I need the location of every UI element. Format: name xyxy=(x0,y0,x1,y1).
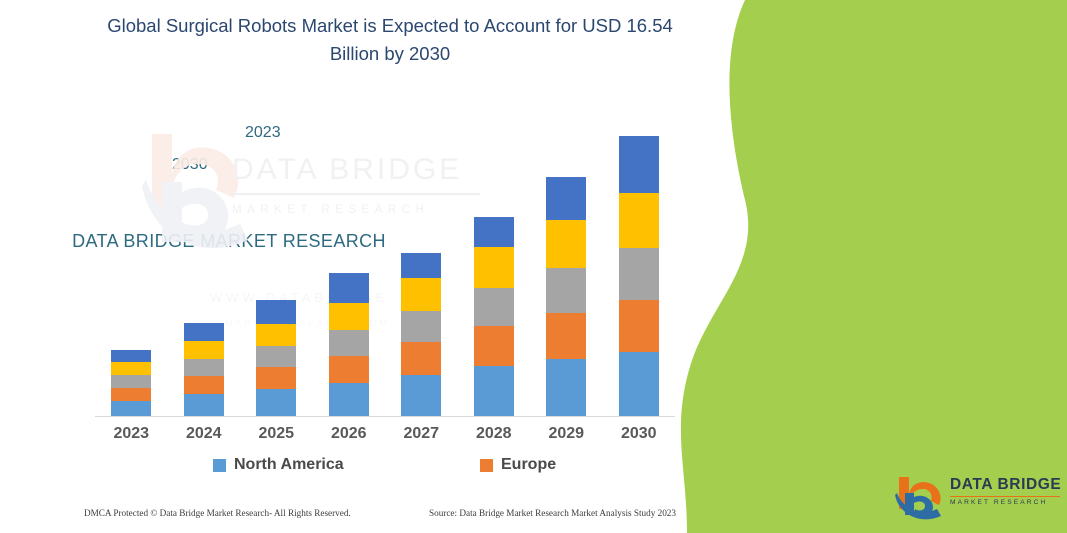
x-tick-label-2025: 2025 xyxy=(240,425,312,443)
bar-segment-north-america-2024[interactable] xyxy=(184,394,224,416)
bar-column-2028[interactable] xyxy=(474,217,514,416)
bar-segment-middle-east-and-africa-2024[interactable] xyxy=(184,323,224,341)
bar-segment-asia-pacific-2030[interactable] xyxy=(619,248,659,300)
bar-segment-europe-2029[interactable] xyxy=(546,313,586,359)
bar-segment-south-america-2027[interactable] xyxy=(401,278,441,311)
bar-segment-south-america-2026[interactable] xyxy=(329,303,369,330)
bar-column-2025[interactable] xyxy=(256,300,296,416)
bar-segment-south-america-2023[interactable] xyxy=(111,362,151,375)
footer-source: Source: Data Bridge Market Research Mark… xyxy=(429,508,676,518)
legend-item-europe[interactable]: Europe xyxy=(480,456,556,474)
legend-label: North America xyxy=(234,456,344,474)
bar-segment-asia-pacific-2023[interactable] xyxy=(111,375,151,388)
bar-segment-middle-east-and-africa-2025[interactable] xyxy=(256,300,296,324)
logo-mark-icon xyxy=(893,475,947,521)
bar-segment-south-america-2029[interactable] xyxy=(546,220,586,268)
legend-swatch-icon xyxy=(213,459,226,472)
page-title: Global Surgical Robots Market is Expecte… xyxy=(90,12,690,68)
bar-segment-europe-2027[interactable] xyxy=(401,342,441,375)
bar-segment-south-america-2024[interactable] xyxy=(184,341,224,359)
bar-column-2026[interactable] xyxy=(329,273,369,416)
logo-subtitle: MARKET RESEARCH xyxy=(950,500,1062,507)
chart-legend: North AmericaEurope xyxy=(95,456,675,482)
bar-segment-north-america-2026[interactable] xyxy=(329,383,369,416)
bar-column-2023[interactable] xyxy=(111,350,151,416)
bar-segment-north-america-2028[interactable] xyxy=(474,366,514,416)
bar-segment-europe-2023[interactable] xyxy=(111,388,151,401)
footer-copyright: DMCA Protected © Data Bridge Market Rese… xyxy=(84,508,351,518)
bar-segment-north-america-2023[interactable] xyxy=(111,401,151,416)
bar-segment-middle-east-and-africa-2028[interactable] xyxy=(474,217,514,247)
bar-segment-asia-pacific-2029[interactable] xyxy=(546,268,586,313)
infographic-page: Global Surgical Robots Market, By Region… xyxy=(0,0,1067,533)
bar-segment-europe-2026[interactable] xyxy=(329,356,369,383)
bar-segment-europe-2024[interactable] xyxy=(184,376,224,394)
bar-segment-asia-pacific-2028[interactable] xyxy=(474,288,514,326)
bar-column-2027[interactable] xyxy=(401,253,441,416)
right-green-panel xyxy=(667,0,1067,533)
bar-column-2030[interactable] xyxy=(619,136,659,416)
logo-text-block: DATA BRIDGE MARKET RESEARCH xyxy=(950,477,1062,506)
bar-segment-asia-pacific-2024[interactable] xyxy=(184,359,224,376)
bar-segment-south-america-2028[interactable] xyxy=(474,247,514,288)
bar-segment-north-america-2025[interactable] xyxy=(256,389,296,416)
logo-divider xyxy=(950,496,1060,497)
bar-column-2029[interactable] xyxy=(546,177,586,416)
x-tick-label-2029: 2029 xyxy=(530,425,602,443)
bar-segment-middle-east-and-africa-2027[interactable] xyxy=(401,253,441,278)
bar-segment-europe-2028[interactable] xyxy=(474,326,514,366)
bar-segment-middle-east-and-africa-2029[interactable] xyxy=(546,177,586,220)
bar-segment-asia-pacific-2027[interactable] xyxy=(401,311,441,342)
bar-segment-asia-pacific-2026[interactable] xyxy=(329,330,369,356)
bar-segment-middle-east-and-africa-2026[interactable] xyxy=(329,273,369,303)
x-tick-label-2024: 2024 xyxy=(168,425,240,443)
bar-segment-middle-east-and-africa-2023[interactable] xyxy=(111,350,151,362)
bar-segment-europe-2025[interactable] xyxy=(256,367,296,389)
green-panel-shape xyxy=(667,0,1067,533)
data-bridge-logo: DATA BRIDGE MARKET RESEARCH xyxy=(893,475,1061,523)
bar-segment-europe-2030[interactable] xyxy=(619,300,659,352)
x-tick-label-2027: 2027 xyxy=(385,425,457,443)
x-tick-label-2030: 2030 xyxy=(603,425,675,443)
bar-segment-asia-pacific-2025[interactable] xyxy=(256,346,296,367)
bar-segment-south-america-2025[interactable] xyxy=(256,324,296,346)
bar-segment-north-america-2030[interactable] xyxy=(619,352,659,416)
x-tick-label-2023: 2023 xyxy=(95,425,167,443)
legend-swatch-icon xyxy=(480,459,493,472)
x-axis-tick-labels: 20232024202520262027202820292030 xyxy=(95,425,675,449)
x-axis-line xyxy=(95,416,675,417)
bar-column-2024[interactable] xyxy=(184,323,224,416)
bar-segment-north-america-2029[interactable] xyxy=(546,359,586,416)
stacked-bar-series-group xyxy=(95,120,675,417)
bar-segment-south-america-2030[interactable] xyxy=(619,193,659,248)
bar-segment-north-america-2027[interactable] xyxy=(401,375,441,416)
x-tick-label-2026: 2026 xyxy=(313,425,385,443)
chart-plot-area xyxy=(95,120,675,417)
legend-label: Europe xyxy=(501,456,556,474)
logo-title: DATA BRIDGE xyxy=(950,477,1062,493)
bar-segment-middle-east-and-africa-2030[interactable] xyxy=(619,136,659,193)
legend-item-north-america[interactable]: North America xyxy=(213,456,344,474)
x-tick-label-2028: 2028 xyxy=(458,425,530,443)
